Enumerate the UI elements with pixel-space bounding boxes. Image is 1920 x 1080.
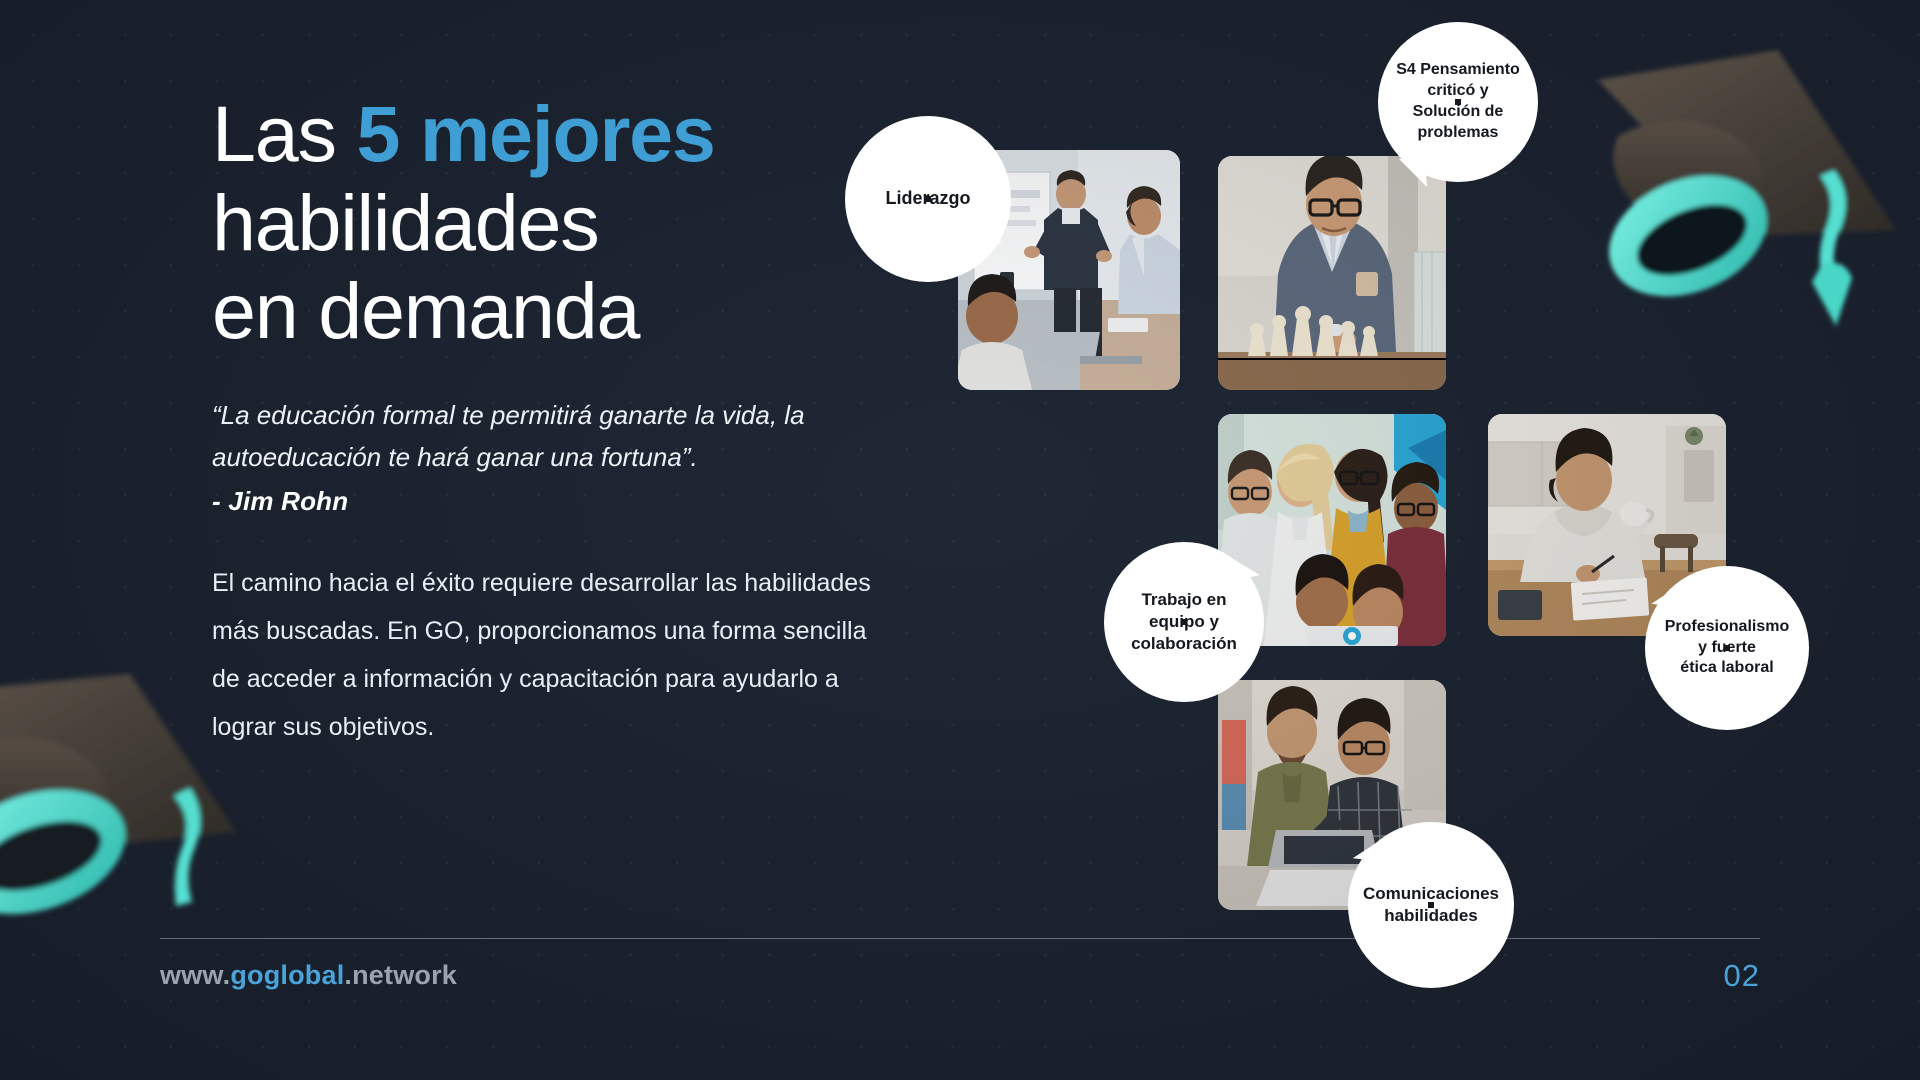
body-paragraph: El camino hacia el éxito requiere desarr…	[212, 559, 872, 751]
page-title-line-3: en demanda	[212, 273, 912, 350]
skill-bubble-liderazgo[interactable]: Liderazgo	[845, 116, 1011, 282]
skill-bubble-comunicaciones[interactable]: Comunicaciones habilidades	[1348, 822, 1514, 988]
footer-divider	[160, 938, 1760, 939]
skill-bubble-comunicaciones-label: Comunicaciones habilidades	[1353, 883, 1509, 927]
title-plain: Las	[212, 89, 357, 178]
grad-cap-top-right-icon	[1596, 40, 1920, 340]
graduation-cap-shape	[0, 672, 270, 972]
skill-bubble-pensamiento-label: S4 Pensamiento criticó y Solución de pro…	[1386, 60, 1530, 143]
left-content-column: Las 5 mejores habilidades en demanda “La…	[212, 96, 912, 751]
bubble-tail	[970, 239, 1003, 268]
bubble-tail	[1353, 832, 1388, 861]
quote-attribution: - Jim Rohn	[212, 486, 912, 517]
photo-chess-image	[1218, 156, 1446, 390]
quote-text: “La educación formal te permitirá ganart…	[212, 394, 952, 478]
grad-cap-bottom-left-icon	[0, 672, 270, 972]
title-highlight: 5 mejores	[357, 89, 715, 178]
bubble-tail	[1399, 157, 1427, 189]
skill-bubble-liderazgo-label: Liderazgo	[875, 187, 980, 210]
skill-bubble-pensamiento[interactable]: S4 Pensamiento criticó y Solución de pro…	[1378, 22, 1538, 182]
page-title-line-2: habilidades	[212, 185, 912, 262]
skill-bubble-profesionalismo[interactable]: Profesionalismo y fuerte ética laboral	[1645, 566, 1809, 730]
url-suffix: .network	[344, 960, 457, 990]
slide-canvas: Liderazgo S4 Pensamiento criticó y Soluc…	[0, 0, 1920, 1080]
page-title-line-1: Las 5 mejores	[212, 96, 912, 173]
skill-bubble-profesionalismo-label: Profesionalismo y fuerte ética laboral	[1655, 617, 1799, 679]
graduation-cap-shape	[1596, 40, 1920, 340]
skill-bubble-trabajo-equipo[interactable]: Trabajo en equipo y colaboración	[1104, 542, 1264, 702]
bubble-tail	[1226, 550, 1260, 581]
page-number: 02	[1724, 958, 1760, 994]
photo-chess	[1218, 156, 1446, 390]
bubble-tail	[1651, 578, 1684, 608]
skill-bubble-trabajo-equipo-label: Trabajo en equipo y colaboración	[1121, 589, 1247, 655]
